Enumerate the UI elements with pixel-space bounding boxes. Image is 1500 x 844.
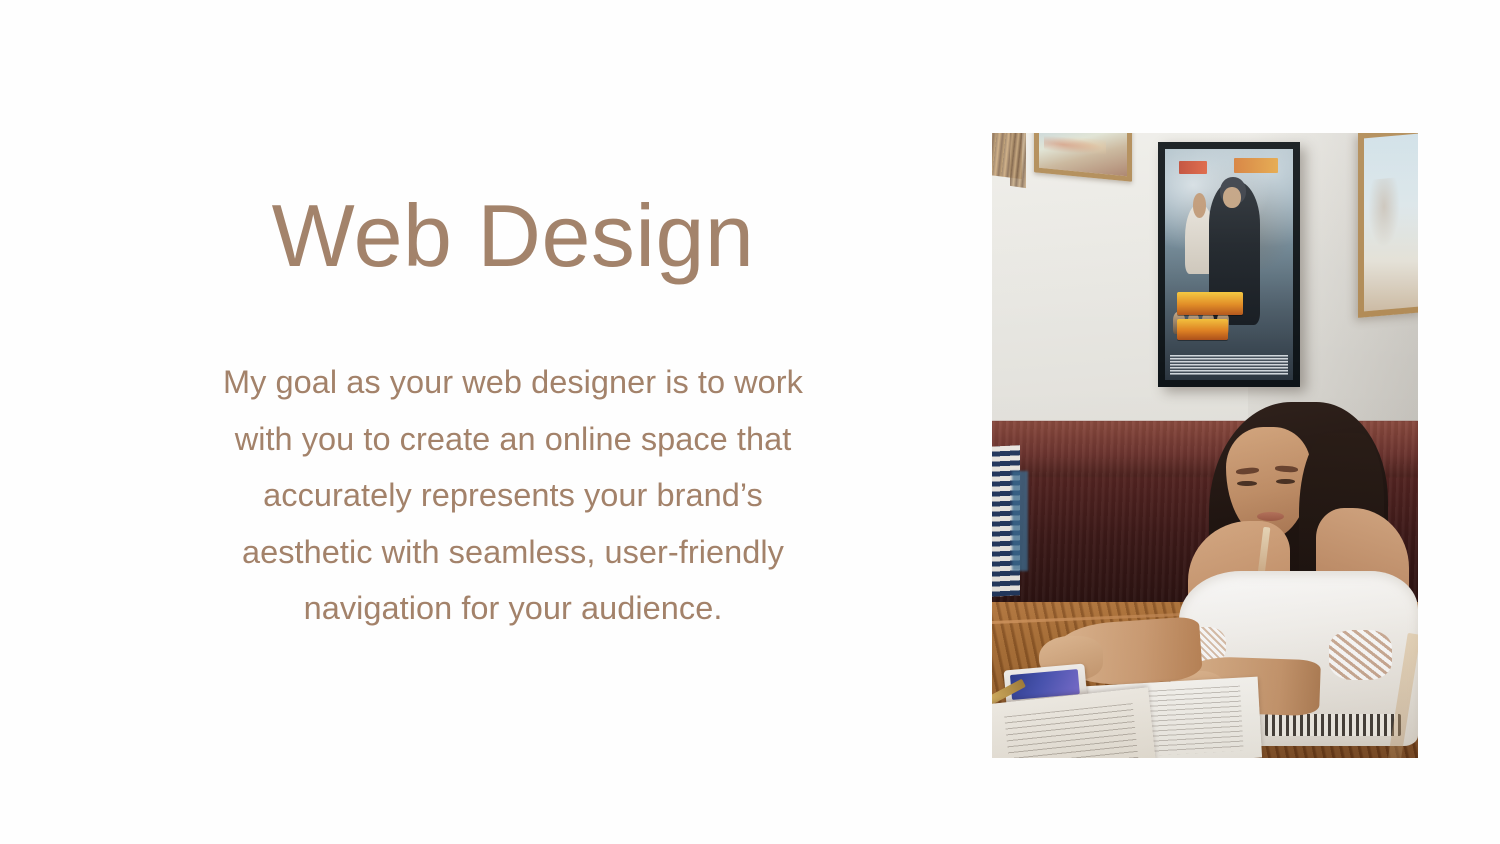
text-column: Web Design My goal as your web designer … xyxy=(118,190,908,637)
body-line: navigation for your audience. xyxy=(148,580,878,637)
poster-figure-face xyxy=(1223,187,1241,208)
poster-credits-block xyxy=(1170,355,1288,376)
body-paragraph: My goal as your web designer is to work … xyxy=(148,354,878,637)
frame-stack-secondary-icon xyxy=(1010,133,1026,188)
poster-artwork xyxy=(1165,149,1293,380)
poster-devanagari-left xyxy=(1179,161,1207,175)
poster-devanagari-right xyxy=(1234,158,1278,173)
body-line: My goal as your web designer is to work xyxy=(148,354,878,411)
body-line: with you to create an online space that xyxy=(148,411,878,468)
framed-picture-right xyxy=(1358,133,1418,318)
body-line: accurately represents your brand’s xyxy=(148,467,878,524)
body-line: aesthetic with seamless, user-friendly xyxy=(148,524,878,581)
framed-movie-poster xyxy=(1158,142,1300,387)
blouse-hem-trim xyxy=(1265,714,1401,735)
hero-photo xyxy=(992,133,1418,758)
page-title: Web Design xyxy=(118,190,908,282)
slide-canvas: Web Design My goal as your web designer … xyxy=(0,0,1500,844)
notebook-text-lines xyxy=(1005,703,1141,758)
poster-title-line-1 xyxy=(1177,292,1244,315)
person-eye-left xyxy=(1237,481,1257,487)
blouse-lace-right xyxy=(1329,630,1393,680)
cushion-shadow xyxy=(1012,471,1028,571)
poster-title-line-2 xyxy=(1177,319,1228,340)
photo-illustration xyxy=(992,133,1418,758)
